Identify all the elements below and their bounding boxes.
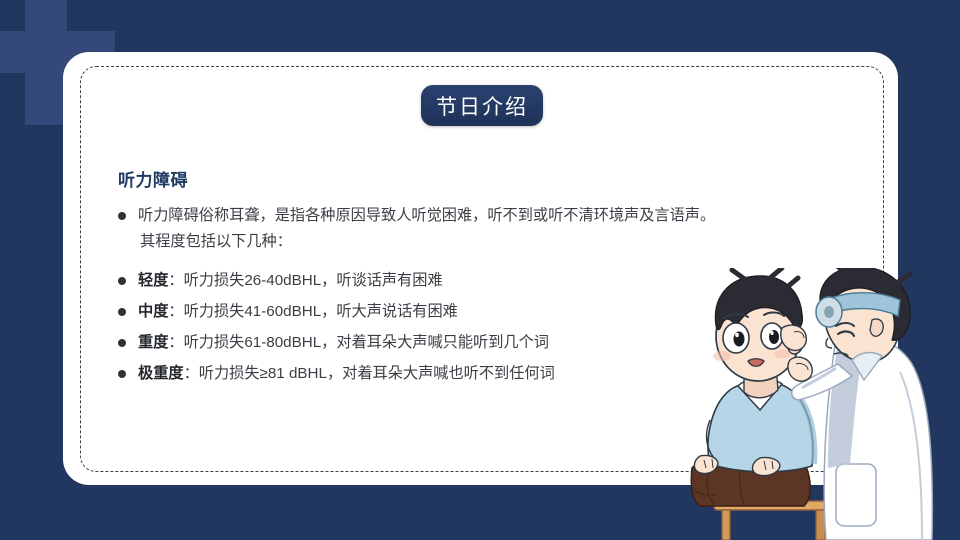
list-item-label: 中度 bbox=[138, 303, 168, 320]
stool-shape bbox=[714, 501, 832, 540]
coat-pocket bbox=[836, 464, 876, 526]
slide-root: 节日介绍 听力障碍 听力障碍俗称耳聋，是指各种原因导致人听觉困难，听不到或听不清… bbox=[0, 0, 960, 540]
page-title: 听力障碍 bbox=[118, 166, 878, 191]
doctor-hand-lower bbox=[788, 357, 812, 381]
list-item-label: 轻度 bbox=[138, 272, 168, 289]
section-title-badge: 节日介绍 bbox=[421, 85, 543, 126]
list-item-label: 重度 bbox=[138, 334, 168, 351]
bullet-dot-icon bbox=[118, 339, 126, 347]
boy-hand-left bbox=[694, 455, 718, 473]
bullet-dot-icon bbox=[118, 277, 126, 285]
list-item-body: ：听力损失61-80dBHL，对着耳朵大声喊只能听到几个词 bbox=[168, 334, 549, 351]
list-item-body: ：听力损失41-60dBHL，听大声说话有困难 bbox=[168, 303, 457, 320]
bullet-dot-icon bbox=[118, 308, 126, 316]
boy-hand-right bbox=[753, 457, 780, 475]
section-title-label: 节日介绍 bbox=[436, 91, 528, 121]
list-item-body: ：听力损失≥81 dBHL，对着耳朵大声喊也听不到任何词 bbox=[184, 365, 555, 382]
list-item-body: ：听力损失26-40dBHL，听谈话声有困难 bbox=[168, 272, 442, 289]
bullet-dot-icon bbox=[118, 370, 126, 378]
bullet-dot-icon bbox=[118, 212, 126, 220]
list-item-text: 听力障碍俗称耳聋，是指各种原因导致人听觉困难，听不到或听不清环境声及言语声。 其… bbox=[138, 203, 878, 255]
list-item-continuation: 其程度包括以下几种： bbox=[138, 229, 878, 255]
doctor-examining-boy-ear-illustration bbox=[686, 268, 960, 540]
list-item: 听力障碍俗称耳聋，是指各种原因导致人听觉困难，听不到或听不清环境声及言语声。 其… bbox=[118, 203, 878, 255]
list-item-body: 听力障碍俗称耳聋，是指各种原因导致人听觉困难，听不到或听不清环境声及言语声。 bbox=[138, 207, 715, 224]
list-item-label: 极重度 bbox=[138, 365, 184, 382]
